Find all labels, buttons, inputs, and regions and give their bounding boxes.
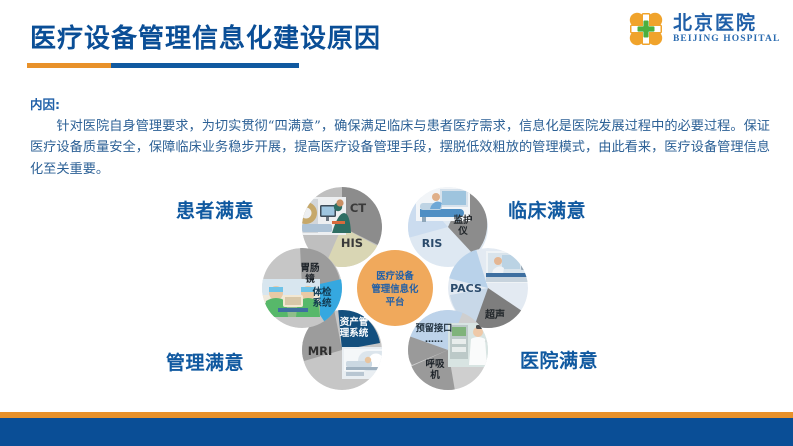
petal-label-his: HIS xyxy=(341,236,363,250)
hospital-name-cn: 北京医院 xyxy=(673,14,780,33)
petal-label-exam-system-line1: 体检 xyxy=(312,286,332,298)
petal-label-ultrasound: 超声 xyxy=(484,308,505,321)
hospital-logo-text: 北京医院 BEIJING HOSPITAL xyxy=(673,14,780,45)
petal-label-ct: CT xyxy=(350,201,366,215)
hospital-logo: 北京医院 BEIJING HOSPITAL xyxy=(626,6,786,52)
photo-ventilator-doctor xyxy=(448,323,492,367)
footer-blue-bar xyxy=(0,418,793,446)
hospital-name-en: BEIJING HOSPITAL xyxy=(673,35,780,45)
photo-mri-machine xyxy=(342,347,390,379)
hospital-logo-mark-icon xyxy=(626,9,666,49)
petal-label-asset-management-line1: 资产管 xyxy=(340,316,369,328)
satisfaction-label-patient: 患者满意 xyxy=(176,196,254,223)
petal-label-exam-system-line2: 系统 xyxy=(312,297,332,309)
petal-label-ventilator-line1: 呼吸 xyxy=(425,358,445,370)
satisfaction-label-management: 管理满意 xyxy=(166,348,244,375)
body-paragraph: 针对医院自身管理要求，为切实贯彻“四满意”，确保满足临床与患者医疗需求，信息化是… xyxy=(30,116,770,180)
lead-label: 内因: xyxy=(30,94,60,113)
hub-label-line3: 平台 xyxy=(386,296,405,308)
petal-label-gastroscope-line2: 镜 xyxy=(305,273,315,285)
petal-label-gastroscope-line1: 胃肠 xyxy=(300,263,320,274)
title-underline-orange-segment xyxy=(27,63,111,68)
petal-label-ris: RIS xyxy=(422,237,443,250)
photo-ct-scanner-room xyxy=(292,197,351,235)
petal-label-mri: MRI xyxy=(308,344,333,358)
petal-label-pacs: PACS xyxy=(450,282,482,295)
petal-label-monitor-line1: 监护 xyxy=(453,214,472,226)
hub-label-line2: 管理信息化 xyxy=(372,283,420,295)
photo-ultrasound-monitor xyxy=(486,251,534,283)
petal-label-reserved-interface: 预留接口 xyxy=(416,322,453,334)
petal-label-asset-management-line2: 理系统 xyxy=(340,327,369,339)
petal-label-monitor-line2: 仪 xyxy=(457,226,468,237)
medical-equipment-platform-diagram: CT HIS xyxy=(250,175,540,400)
slide-canvas: 北京医院 BEIJING HOSPITAL 医疗设备管理信息化建设原因 内因: … xyxy=(0,0,793,446)
title-underline-blue-segment xyxy=(111,63,299,68)
hub-label-line1: 医疗设备 xyxy=(376,270,414,282)
page-title: 医疗设备管理信息化建设原因 xyxy=(30,18,381,55)
title-underline xyxy=(27,63,299,68)
petal-label-ventilator-line2: 机 xyxy=(430,369,440,381)
petal-label-reserved-interface-dots: …… xyxy=(425,335,443,345)
